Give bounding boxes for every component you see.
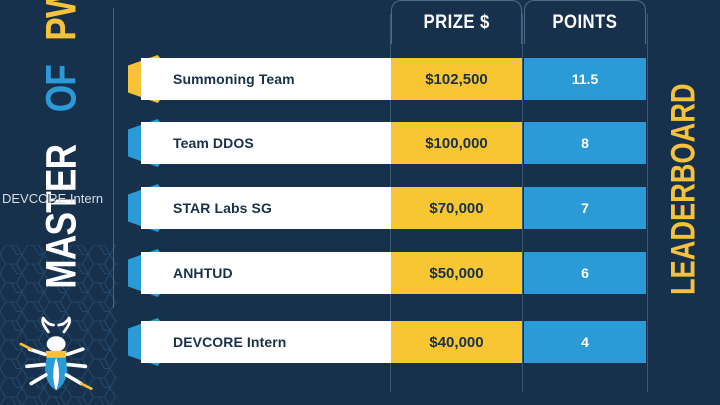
points-value: 8: [581, 135, 589, 151]
team-name: Summoning Team: [173, 71, 295, 87]
prize-value: $50,000: [429, 265, 483, 282]
column-header-prize-label: PRIZE $: [423, 12, 489, 34]
prize-cell: $102,500: [391, 58, 522, 100]
column-header-prize: PRIZE $: [391, 0, 522, 44]
points-cell: 11.5: [524, 58, 646, 100]
points-value: 4: [581, 334, 589, 350]
title-word-pwn: PWN: [38, 0, 87, 41]
team-name: STAR Labs SG: [173, 200, 272, 216]
points-value: 11.5: [572, 71, 598, 87]
points-cell: 7: [524, 187, 646, 229]
points-cell: 8: [524, 122, 646, 164]
prize-value: $100,000: [425, 135, 488, 152]
vertical-divider: [113, 8, 114, 308]
points-cell: 6: [524, 252, 646, 294]
leaderboard-slide: MASTER OF PWN: [0, 0, 720, 405]
prize-value: $40,000: [429, 334, 483, 351]
team-name-cell: STAR Labs SG: [141, 187, 391, 229]
team-name-cell: ANHTUD: [141, 252, 391, 294]
prize-cell: $100,000: [391, 122, 522, 164]
title-word-master: MASTER: [38, 145, 87, 289]
column-header-points: POINTS: [524, 0, 646, 44]
column-divider-points: [522, 14, 523, 392]
left-title-banner: MASTER OF PWN: [0, 0, 118, 405]
prize-cell: $70,000: [391, 187, 522, 229]
prize-value: $70,000: [429, 200, 483, 217]
page-title: MASTER OF PWN: [38, 25, 87, 305]
points-value: 7: [581, 200, 589, 216]
points-cell: 4: [524, 321, 646, 363]
beetle-mascot-icon: [14, 313, 100, 399]
prize-cell: $50,000: [391, 252, 522, 294]
prize-cell: $40,000: [391, 321, 522, 363]
title-word-of: OF: [38, 65, 87, 112]
team-name-cell: Summoning Team: [141, 58, 391, 100]
prize-value: $102,500: [425, 71, 488, 88]
column-header-points-label: POINTS: [553, 12, 618, 34]
team-name-cell: DEVCORE Intern: [141, 321, 391, 363]
right-leaderboard-banner: LEADERBOARD: [648, 0, 720, 405]
points-value: 6: [581, 265, 589, 281]
team-name: Team DDOS: [173, 135, 254, 151]
team-name-cell: Team DDOS: [141, 122, 391, 164]
leaderboard-label-text: LEADERBOARD: [665, 84, 704, 296]
leaderboard-label: LEADERBOARD: [665, 50, 704, 330]
team-name: DEVCORE Intern: [173, 334, 286, 350]
team-name: ANHTUD: [173, 265, 233, 281]
